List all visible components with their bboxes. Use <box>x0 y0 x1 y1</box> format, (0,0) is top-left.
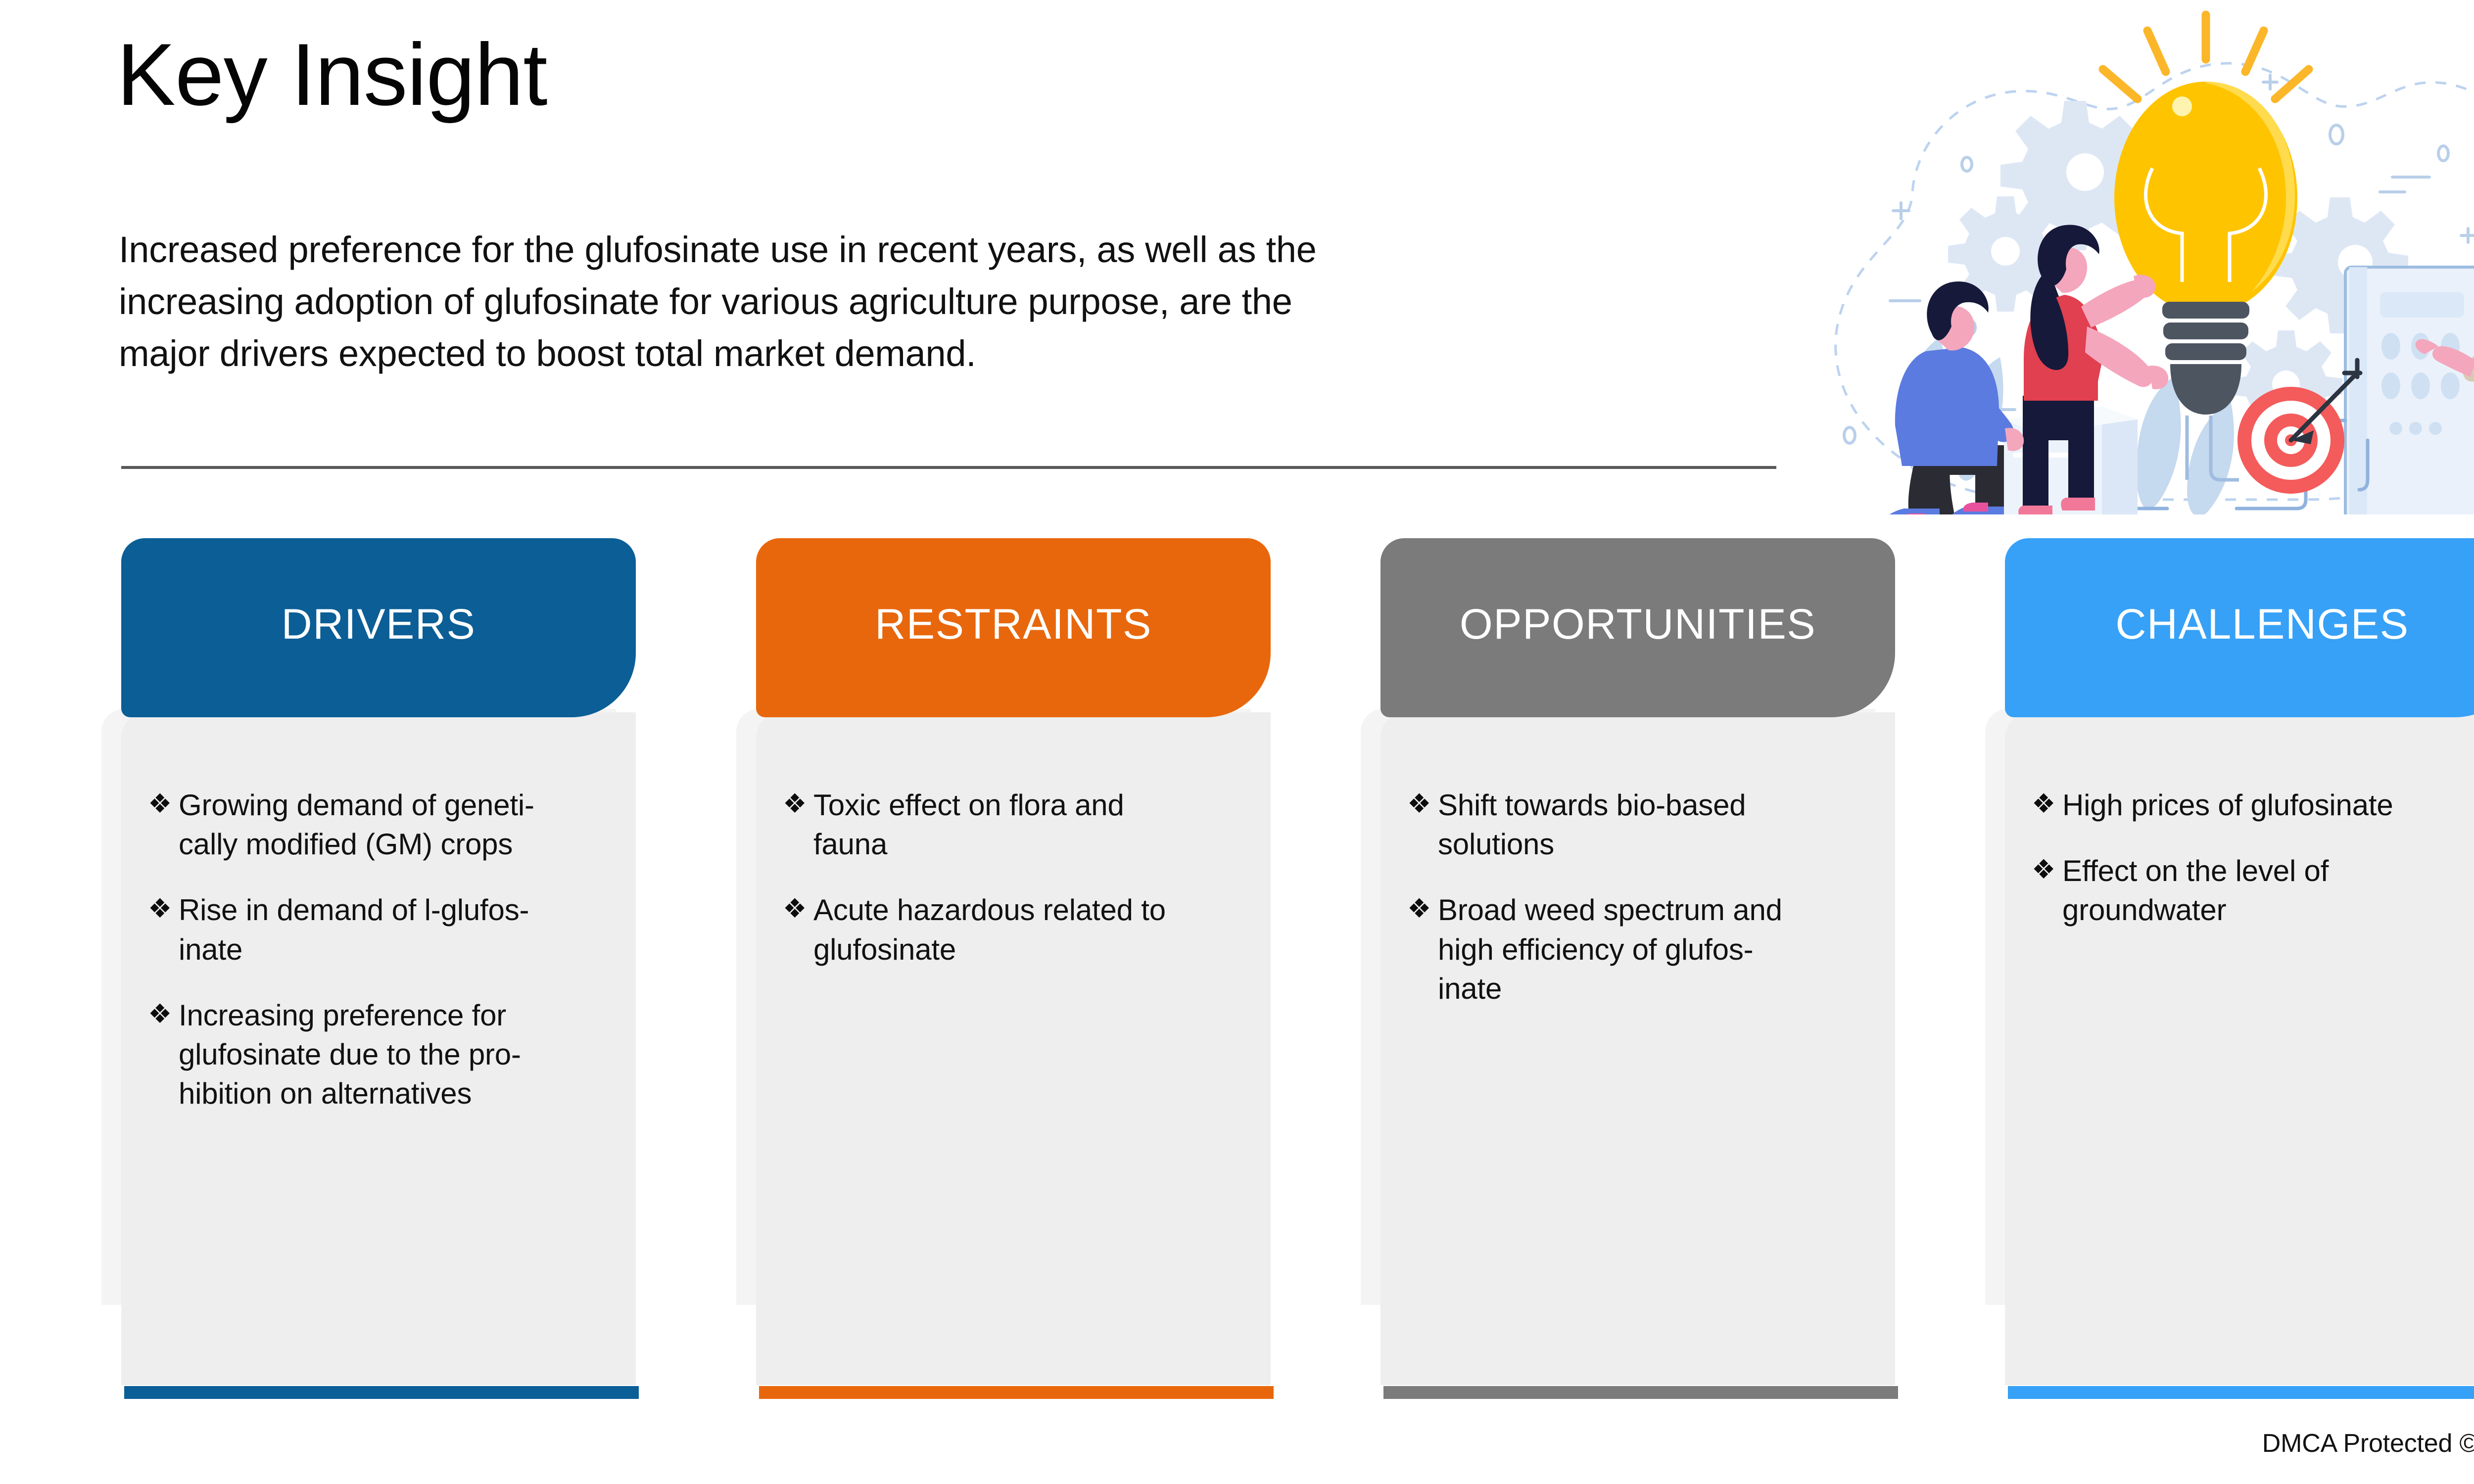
copyright-footer: DMCA Protected © DataBridge <box>2262 1429 2474 1458</box>
card-opportunities: OPPORTUNITIES❖Shift towards bio-based so… <box>1380 538 1895 1414</box>
card-accent-bar <box>2008 1386 2474 1399</box>
card-header-label: CHALLENGES <box>2115 603 2409 646</box>
bullet-text: Shift towards bio-based solutions <box>1438 786 1878 864</box>
card-drivers: DRIVERS❖Growing demand of geneti- cally … <box>121 538 636 1414</box>
bullet-diamond-icon: ❖ <box>783 891 813 927</box>
card-bullet-list: ❖High prices of glufosinate❖Effect on th… <box>2005 712 2474 957</box>
bullet-item: ❖Growing demand of geneti- cally modifie… <box>148 786 619 864</box>
bullet-item: ❖Toxic effect on flora and fauna <box>783 786 1254 864</box>
bullet-diamond-icon: ❖ <box>2032 787 2062 822</box>
bullet-item: ❖Increasing preference for glufosinate d… <box>148 996 619 1113</box>
bullet-diamond-icon: ❖ <box>148 891 179 927</box>
card-accent-bar <box>124 1386 639 1399</box>
card-header-drivers[interactable]: DRIVERS <box>121 538 636 717</box>
card-accent-bar <box>759 1386 1274 1399</box>
bullet-item: ❖Acute hazardous related to glufosinate <box>783 890 1254 969</box>
card-header-restraints[interactable]: RESTRAINTS <box>756 538 1271 717</box>
card-header-label: OPPORTUNITIES <box>1460 603 1816 646</box>
bullet-item: ❖High prices of glufosinate <box>2032 786 2474 825</box>
bullet-diamond-icon: ❖ <box>148 997 179 1032</box>
swot-card-row: DRIVERS❖Growing demand of geneti- cally … <box>0 0 2474 1484</box>
bullet-item: ❖Broad weed spectrum and high efficiency… <box>1407 890 1878 1008</box>
card-bullet-list: ❖Toxic effect on flora and fauna❖Acute h… <box>756 712 1271 996</box>
bullet-text: Effect on the level of groundwater <box>2062 851 2474 929</box>
bullet-text: Rise in demand of l-glufos- inate <box>179 890 619 969</box>
bullet-text: Toxic effect on flora and fauna <box>813 786 1254 864</box>
card-challenges: CHALLENGES❖High prices of glufosinate❖Ef… <box>2005 538 2474 1414</box>
card-header-opportunities[interactable]: OPPORTUNITIES <box>1380 538 1895 717</box>
bullet-text: Growing demand of geneti- cally modified… <box>179 786 619 864</box>
card-bullet-list: ❖Shift towards bio-based solutions❖Broad… <box>1380 712 1895 1035</box>
bullet-diamond-icon: ❖ <box>783 787 813 822</box>
slide-canvas: Key Insight Increased preference for the… <box>0 0 2474 1484</box>
bullet-diamond-icon: ❖ <box>2032 852 2062 887</box>
card-header-label: RESTRAINTS <box>875 603 1152 646</box>
bullet-text: High prices of glufosinate <box>2062 786 2474 825</box>
bullet-text: Acute hazardous related to glufosinate <box>813 890 1254 969</box>
bullet-diamond-icon: ❖ <box>1407 787 1438 822</box>
bullet-diamond-icon: ❖ <box>148 787 179 822</box>
card-restraints: RESTRAINTS❖Toxic effect on flora and fau… <box>756 538 1271 1414</box>
bullet-item: ❖Rise in demand of l-glufos- inate <box>148 890 619 969</box>
bullet-item: ❖Effect on the level of groundwater <box>2032 851 2474 929</box>
card-accent-bar <box>1383 1386 1898 1399</box>
card-bullet-list: ❖Growing demand of geneti- cally modifie… <box>121 712 636 1140</box>
bullet-text: Increasing preference for glufosinate du… <box>179 996 619 1113</box>
card-header-challenges[interactable]: CHALLENGES <box>2005 538 2474 717</box>
card-header-label: DRIVERS <box>282 603 476 646</box>
bullet-item: ❖Shift towards bio-based solutions <box>1407 786 1878 864</box>
bullet-text: Broad weed spectrum and high efficiency … <box>1438 890 1878 1008</box>
bullet-diamond-icon: ❖ <box>1407 891 1438 927</box>
